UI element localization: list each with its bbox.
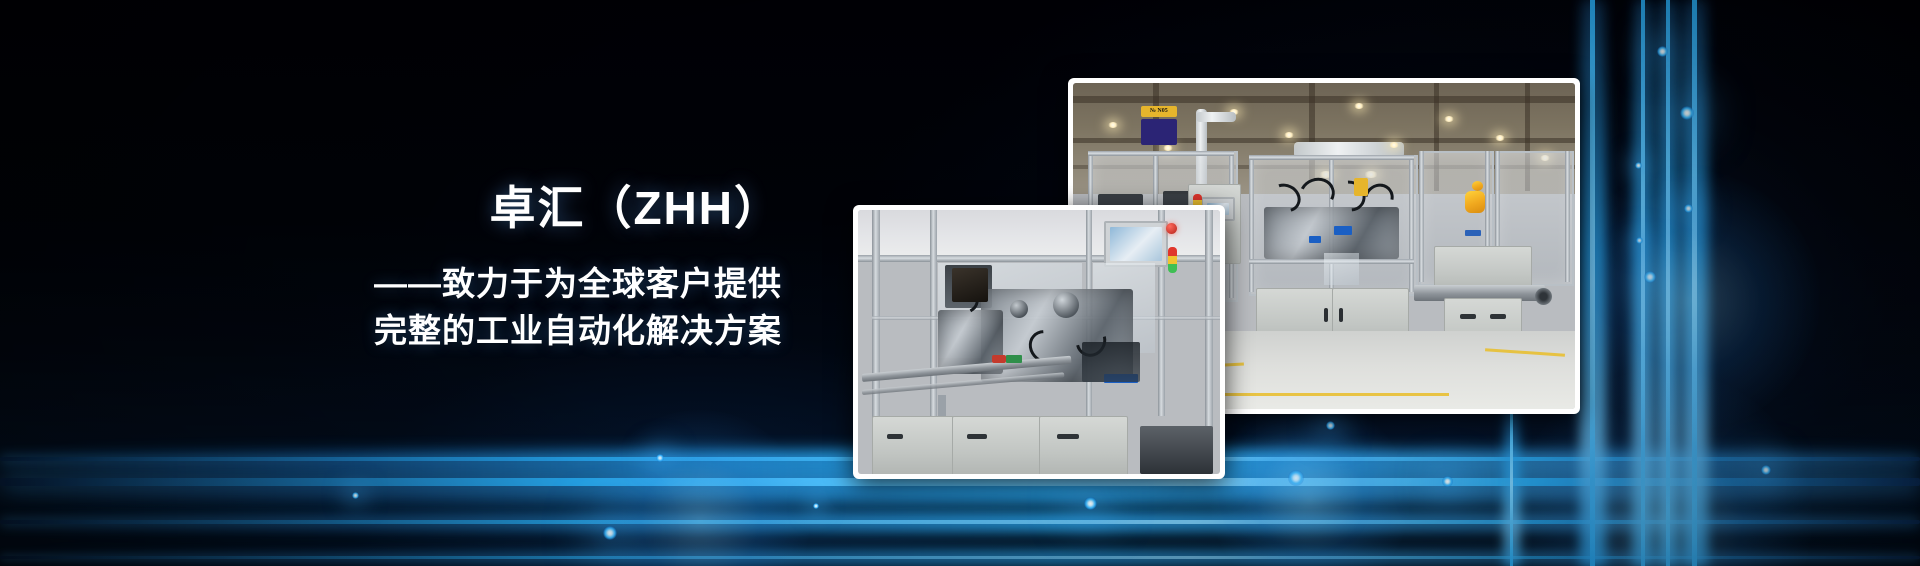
- subtitle-line-2: 完整的工业自动化解决方案: [0, 307, 800, 355]
- robot-arm: [1465, 191, 1485, 213]
- banner-copy: 卓汇（ZHH） ——致力于为全球客户提供 完整的工业自动化解决方案: [0, 180, 800, 355]
- hmi-touch-panel: [1104, 221, 1168, 267]
- cell-number-tag: № N05: [1141, 106, 1177, 117]
- subtitle-line-1: ——致力于为全球客户提供: [0, 260, 800, 308]
- hero-banner: 卓汇（ZHH） ——致力于为全球客户提供 完整的工业自动化解决方案: [0, 0, 1920, 566]
- emergency-stop-button: [1166, 223, 1177, 234]
- page-title: 卓汇（ZHH）: [0, 180, 800, 238]
- factory-photo-front: [853, 205, 1225, 479]
